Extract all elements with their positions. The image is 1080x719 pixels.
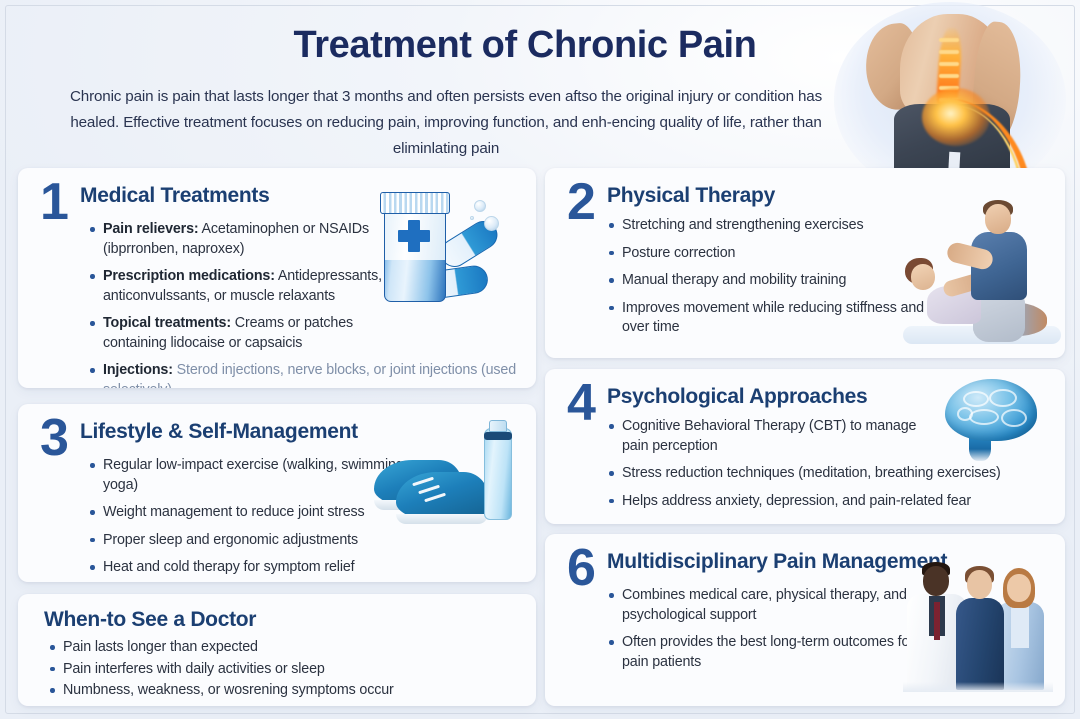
- card-number: 2: [567, 176, 594, 228]
- brain-gyrus: [963, 391, 989, 407]
- nurse-body: [956, 598, 1004, 690]
- list-item: Regular low-impact exercise (walking, sw…: [88, 456, 408, 495]
- water-bottle-band: [484, 432, 512, 440]
- physical-therapy-image: [899, 194, 1061, 354]
- card-title: Psychological Approaches: [607, 385, 867, 409]
- list-item: Cognitive Behavioral Therapy (CBT) to ma…: [607, 417, 937, 456]
- card-number: 4: [567, 377, 594, 429]
- brain-icon: [939, 375, 1043, 467]
- list-item: Pain lasts longer than expected: [48, 638, 508, 658]
- brain-body: [945, 379, 1037, 441]
- list-item: Helps address anxiety, depression, and p…: [607, 492, 1047, 512]
- brain-gyrus: [957, 407, 973, 421]
- doctor-tie: [934, 602, 940, 640]
- bullet-lead: Injections:: [103, 362, 173, 378]
- list-item: Pain relievers: Acetaminophen or NSAIDs …: [88, 220, 418, 259]
- bubble-decoration: [470, 216, 474, 220]
- card-lifestyle-self-management[interactable]: 3 Lifestyle & Self-Management Regular lo…: [18, 404, 536, 582]
- card-psychological-approaches[interactable]: 4 Psychological Approaches Cognitive Beh…: [545, 369, 1065, 524]
- card-number: 6: [567, 542, 594, 594]
- pill-bottle-icon: [378, 184, 518, 324]
- bubble-decoration: [474, 200, 486, 212]
- water-bottle-icon: [484, 428, 512, 520]
- shoe-sole: [396, 514, 488, 524]
- card-when-to-see-a-doctor[interactable]: When-to See a Doctor Pain lasts longer t…: [18, 594, 536, 706]
- hero-vertebra: [939, 74, 959, 78]
- doctor-head: [923, 566, 949, 596]
- bubble-decoration: [484, 216, 499, 231]
- bullet-lead: Pain relievers:: [103, 221, 199, 237]
- brain-gyrus: [969, 409, 999, 425]
- list-item: Pain interferes with daily activities or…: [48, 660, 508, 680]
- hero-vertebra: [939, 62, 959, 66]
- list-item: Prescription medications: Antidepressant…: [88, 267, 418, 306]
- intro-paragraph: Chronic pain is pain that lasts longer t…: [46, 84, 846, 162]
- card-bullet-list: Pain lasts longer than expected Pain int…: [48, 638, 508, 703]
- third-staff-inner-top: [1011, 604, 1029, 648]
- team-floor-shadow: [903, 682, 1053, 692]
- card-bullet-list: Pain relievers: Acetaminophen or NSAIDs …: [88, 220, 418, 388]
- poster-header: Treatment of Chronic Pain Chronic pain i…: [0, 0, 1080, 168]
- infographic-poster: Treatment of Chronic Pain Chronic pain i…: [0, 0, 1080, 719]
- list-item: Heat and cold therapy for symptom relief: [88, 558, 488, 578]
- card-title: Physical Therapy: [607, 184, 775, 208]
- hero-vertebra: [939, 50, 959, 54]
- list-item: Injections: Sterod injections, nerve blo…: [88, 361, 528, 388]
- card-number: 1: [40, 176, 67, 228]
- brain-gyrus: [1001, 409, 1027, 427]
- card-title: Lifestyle & Self-Management: [80, 420, 358, 444]
- medical-cross-icon: [398, 230, 430, 242]
- card-medical-treatments[interactable]: 1 Medical Treatments Pain relievers: Ace…: [18, 168, 536, 388]
- bullet-lead: Prescription medications:: [103, 268, 275, 284]
- nurse-head: [967, 570, 992, 599]
- pill-bottle-cap: [380, 192, 450, 214]
- medical-team-image: [903, 558, 1053, 692]
- card-bullet-list: Regular low-impact exercise (walking, sw…: [88, 456, 408, 582]
- third-staff-head: [1007, 574, 1031, 602]
- card-multidisciplinary-pain-management[interactable]: 6 Multidisciplinary Pain Management Comb…: [545, 534, 1065, 706]
- list-item: Numbness, weakness, or wosrening symptom…: [48, 681, 508, 701]
- card-title: Multidisciplinary Pain Management: [607, 550, 947, 574]
- card-title: Medical Treatments: [80, 184, 270, 208]
- bullet-lead: Topical treatments:: [103, 315, 231, 331]
- brain-gyrus: [989, 389, 1017, 407]
- card-title: When-to See a Doctor: [44, 608, 256, 632]
- water-bottle-cap: [489, 420, 507, 432]
- therapist-head: [985, 204, 1011, 234]
- card-physical-therapy[interactable]: 2 Physical Therapy Stretching and streng…: [545, 168, 1065, 358]
- running-shoes-icon: [370, 420, 520, 538]
- patient-head: [911, 264, 935, 290]
- card-number: 3: [40, 412, 67, 464]
- hero-vertebra: [939, 38, 959, 42]
- list-item: Topical treatments: Creams or patches co…: [88, 314, 418, 353]
